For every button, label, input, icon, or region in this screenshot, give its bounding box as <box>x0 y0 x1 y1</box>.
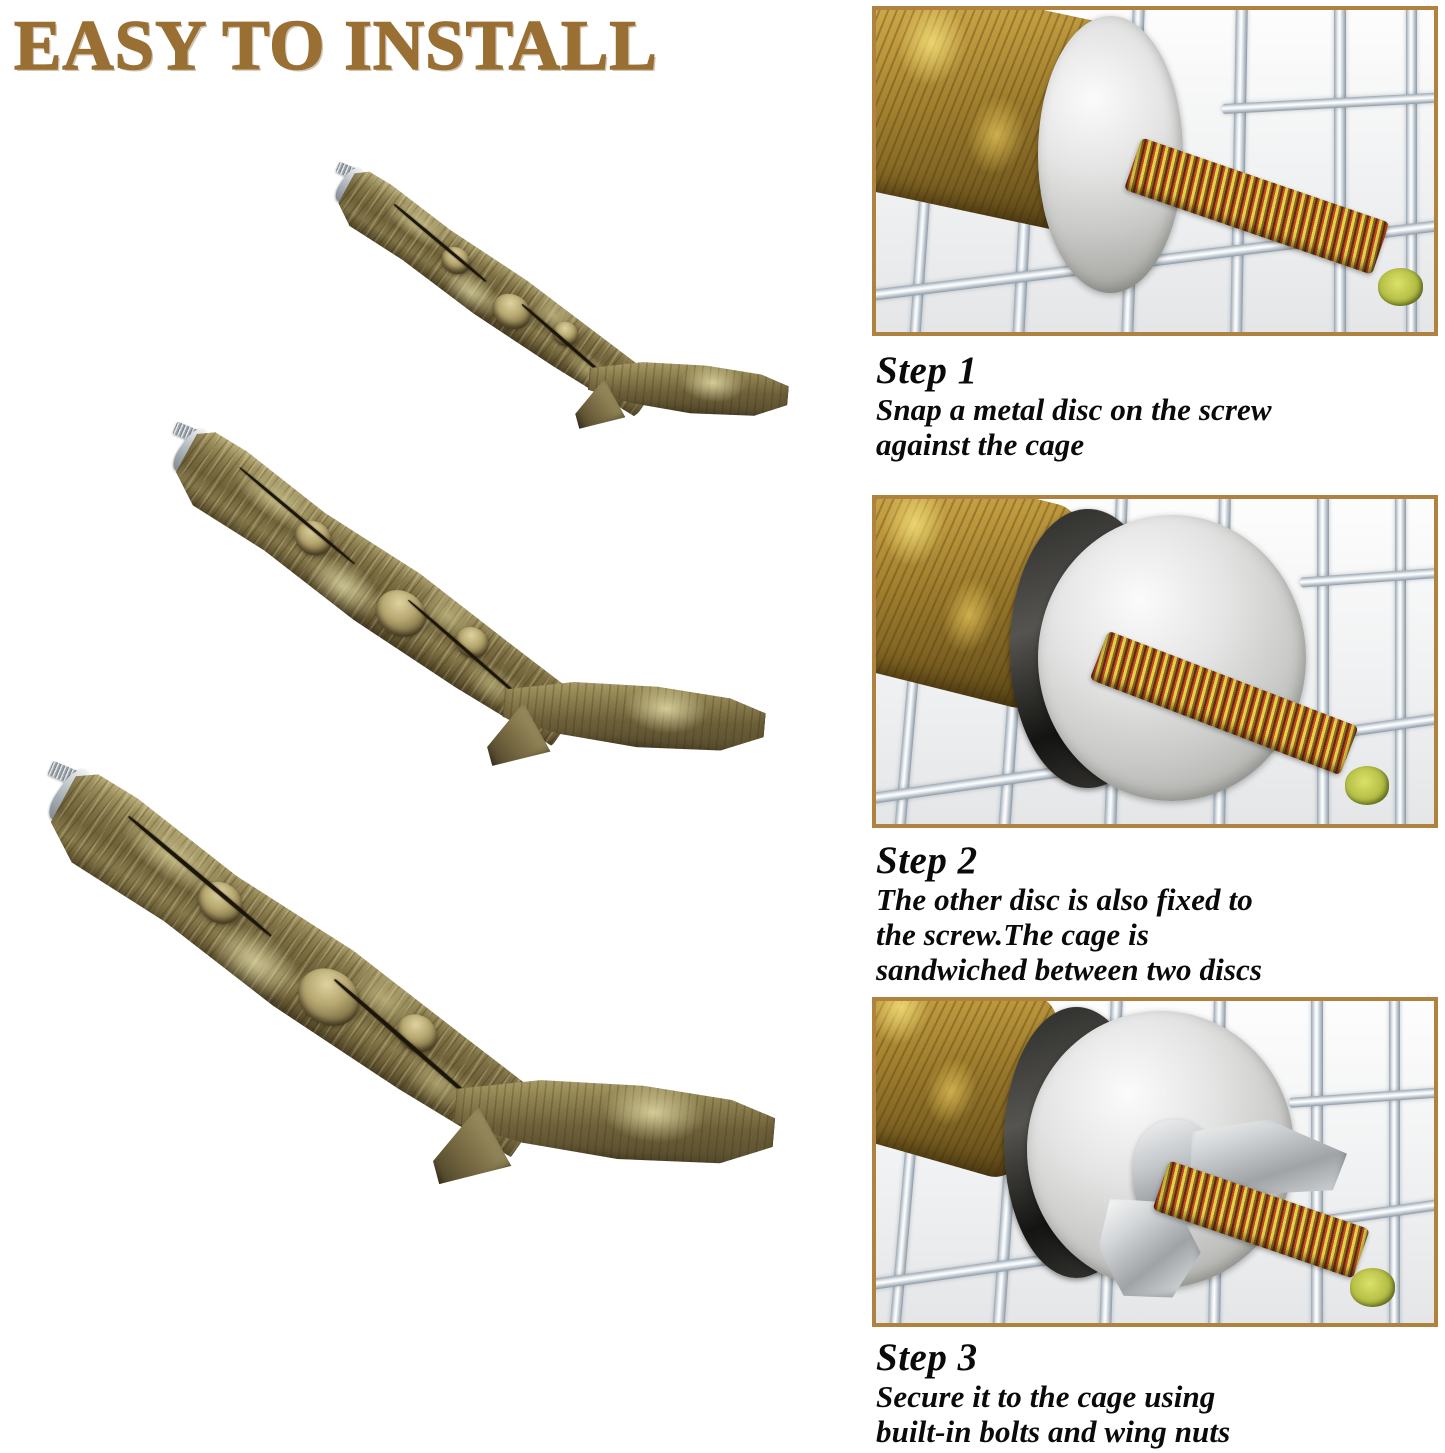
bolt-tip <box>1345 766 1390 805</box>
step-2-photo-frame <box>872 495 1438 828</box>
step-1-caption: Step 1 Snap a metal disc on the screw ag… <box>876 350 1442 462</box>
step-1-photo <box>876 10 1434 332</box>
step-block-2: Step 2 The other disc is also fixed to t… <box>866 495 1445 995</box>
step-2-caption: Step 2 The other disc is also fixed to t… <box>876 840 1442 987</box>
step-1-description: Snap a metal disc on the screw against t… <box>876 392 1442 462</box>
step-2-photo <box>876 499 1434 824</box>
bolt-tip <box>1350 1268 1395 1307</box>
step-3-title: Step 3 <box>876 1337 1442 1379</box>
step-2-description: The other disc is also fixed to the scre… <box>876 882 1442 987</box>
step-3-photo-frame <box>872 997 1438 1327</box>
step-1-title: Step 1 <box>876 350 1442 392</box>
step-1-photo-frame <box>872 6 1438 336</box>
bolt-tip <box>1378 268 1423 307</box>
step-3-caption: Step 3 Secure it to the cage using built… <box>876 1337 1442 1449</box>
cage-wire-vertical <box>1317 499 1329 824</box>
step-3-photo <box>876 1001 1434 1323</box>
product-photo-panel <box>0 95 865 1453</box>
cage-wire-vertical <box>1395 499 1406 824</box>
perch-small <box>281 146 776 543</box>
step-2-title: Step 2 <box>876 840 1442 882</box>
step-block-3: Step 3 Secure it to the cage using built… <box>866 997 1445 1453</box>
step-block-1: Step 1 Snap a metal disc on the screw ag… <box>866 0 1445 490</box>
installation-steps-column: Step 1 Snap a metal disc on the screw ag… <box>866 0 1445 1453</box>
cage-wire-horizontal <box>1222 90 1434 114</box>
cage-wire-vertical <box>1334 10 1346 332</box>
step-3-description: Secure it to the cage using built-in bol… <box>876 1379 1442 1449</box>
page-title: EASY TO INSTALL <box>14 6 874 86</box>
